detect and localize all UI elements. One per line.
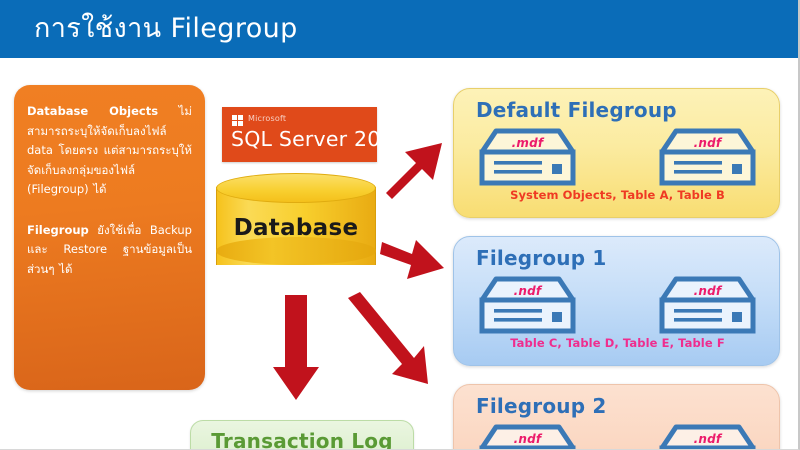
data-file-icon[interactable]: .ndf — [656, 274, 759, 336]
note-paragraph-1-term: Database Objects — [27, 104, 158, 118]
data-file-icon[interactable]: .ndf — [476, 422, 579, 450]
filegroup-1-title: Filegroup 1 — [476, 246, 607, 270]
database-cylinder: Database — [216, 173, 376, 278]
note-paragraph-2-term: Filegroup — [27, 223, 89, 237]
filegroup-1-panel[interactable]: Filegroup 1 .ndf — [453, 236, 780, 366]
default-filegroup-caption: System Objects, Table A, Table B — [454, 188, 781, 202]
slide-canvas: การใช้งาน Filegroup Database Objects ไม่… — [0, 0, 800, 450]
data-file-icon[interactable]: .ndf — [656, 126, 759, 188]
arrow-to-filegroup-1-icon — [378, 232, 450, 292]
microsoft-windows-mark-icon — [232, 115, 243, 126]
database-label: Database — [216, 215, 376, 241]
filegroup-2-title: Filegroup 2 — [476, 394, 607, 418]
file-extension-label: .ndf — [476, 284, 579, 298]
filegroup-1-files: .ndf .ndf — [476, 274, 759, 336]
data-file-icon[interactable]: .mdf — [476, 126, 579, 188]
arrow-to-filegroup-2-icon — [344, 292, 434, 387]
filegroup-2-panel[interactable]: Filegroup 2 .ndf — [453, 384, 780, 450]
transaction-log-panel[interactable]: Transaction Log — [190, 420, 414, 450]
file-extension-label: .ndf — [656, 136, 759, 150]
default-filegroup-title: Default Filegroup — [476, 98, 677, 122]
file-extension-label: .mdf — [476, 136, 579, 150]
page-title: การใช้งาน Filegroup — [34, 11, 298, 47]
cylinder-top — [216, 173, 376, 203]
slide-header-bar: การใช้งาน Filegroup — [0, 0, 800, 58]
cylinder-bottom — [216, 237, 376, 265]
file-extension-label: .ndf — [656, 432, 759, 446]
file-extension-label: .ndf — [656, 284, 759, 298]
explanation-note-box: Database Objects ไม่สามารถระบุให้จัดเก็บ… — [14, 85, 205, 390]
file-extension-label: .ndf — [476, 432, 579, 446]
note-paragraph-1: Database Objects ไม่สามารถระบุให้จัดเก็บ… — [27, 102, 192, 200]
data-file-icon[interactable]: .ndf — [476, 274, 579, 336]
default-filegroup-panel[interactable]: Default Filegroup .mdf — [453, 88, 780, 218]
default-filegroup-files: .mdf .ndf — [476, 126, 759, 188]
filegroup-1-caption: Table C, Table D, Table E, Table F — [454, 336, 781, 350]
note-paragraph-2: Filegroup ยังใช้เพื่อ Backup และ Restore… — [27, 221, 192, 280]
data-file-icon[interactable]: .ndf — [656, 422, 759, 450]
arrow-to-transaction-log-icon — [272, 295, 320, 403]
vendor-label: Microsoft — [248, 114, 286, 123]
sql-server-logo: Microsoft SQL Server 2014 — [222, 107, 377, 162]
transaction-log-label: Transaction Log — [191, 429, 413, 450]
filegroup-2-files: .ndf .ndf — [476, 422, 759, 450]
arrow-to-default-filegroup-icon — [378, 133, 450, 205]
